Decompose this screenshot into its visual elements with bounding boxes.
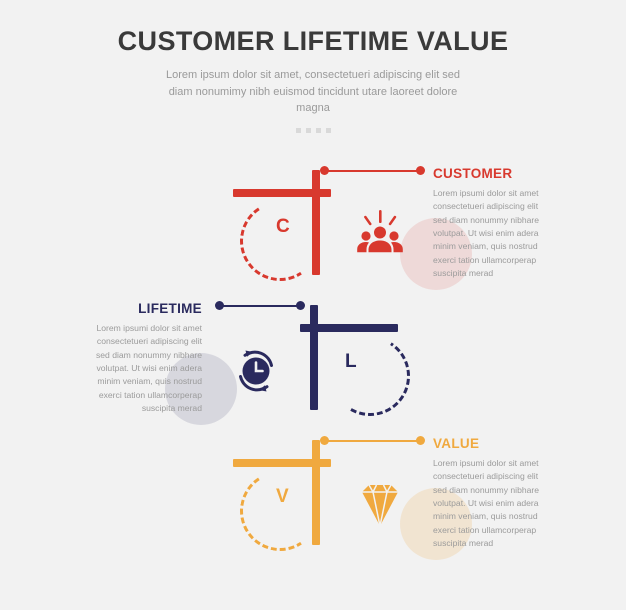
people-group-icon — [352, 208, 408, 264]
page-subtitle: Lorem ipsum dolor sit amet, consectetuer… — [163, 67, 463, 117]
section-value: V VALUE Lorem ipsumi dolor sit amet cons… — [0, 430, 626, 570]
section-body-customer: Lorem ipsumi dolor sit amet consectetuer… — [433, 187, 551, 280]
connector-dot-end — [296, 301, 305, 310]
connector-line — [219, 305, 299, 307]
cross-vertical-bar — [312, 440, 320, 545]
connector-dot-end — [416, 166, 425, 175]
dot-square — [296, 128, 301, 133]
section-body-value: Lorem ipsumi dolor sit amet consectetuer… — [433, 457, 551, 550]
section-lifetime: L LIFETIME Lorem ipsumi dolor sit amet c… — [0, 295, 626, 435]
section-letter-customer: C — [276, 216, 290, 238]
decorative-dots — [0, 128, 626, 133]
section-heading-value: VALUE — [433, 436, 551, 451]
connector-dot-end — [416, 436, 425, 445]
section-letter-lifetime: L — [345, 351, 357, 373]
section-heading-customer: CUSTOMER — [433, 166, 551, 181]
header: CUSTOMER LIFETIME VALUE Lorem ipsum dolo… — [0, 26, 626, 133]
text-block-customer: CUSTOMER Lorem ipsumi dolor sit amet con… — [433, 166, 551, 280]
cross-vertical-bar — [312, 170, 320, 275]
connector-lifetime — [215, 301, 305, 311]
section-customer: C CUSTOMER Lorem ipsumi dolor sit amet c… — [0, 160, 626, 300]
connector-dot-start — [320, 166, 329, 175]
cross-vertical-bar — [310, 305, 318, 410]
connector-customer — [320, 166, 425, 176]
connector-value — [320, 436, 425, 446]
dot-square — [326, 128, 331, 133]
clock-refresh-icon — [228, 343, 284, 399]
dot-square — [306, 128, 311, 133]
dashed-arc-lifetime — [323, 329, 418, 424]
cross-graphic-lifetime: L — [290, 303, 440, 423]
connector-line — [324, 440, 419, 442]
section-body-lifetime: Lorem ipsumi dolor sit amet consectetuer… — [84, 322, 202, 415]
section-heading-lifetime: LIFETIME — [84, 301, 202, 316]
diamond-gem-icon — [352, 478, 408, 534]
connector-dot-start — [215, 301, 224, 310]
text-block-lifetime: LIFETIME Lorem ipsumi dolor sit amet con… — [84, 301, 202, 415]
connector-dot-start — [320, 436, 329, 445]
section-letter-value: V — [276, 486, 289, 508]
connector-line — [324, 170, 419, 172]
text-block-value: VALUE Lorem ipsumi dolor sit amet consec… — [433, 436, 551, 550]
page-title: CUSTOMER LIFETIME VALUE — [0, 26, 626, 57]
dot-square — [316, 128, 321, 133]
